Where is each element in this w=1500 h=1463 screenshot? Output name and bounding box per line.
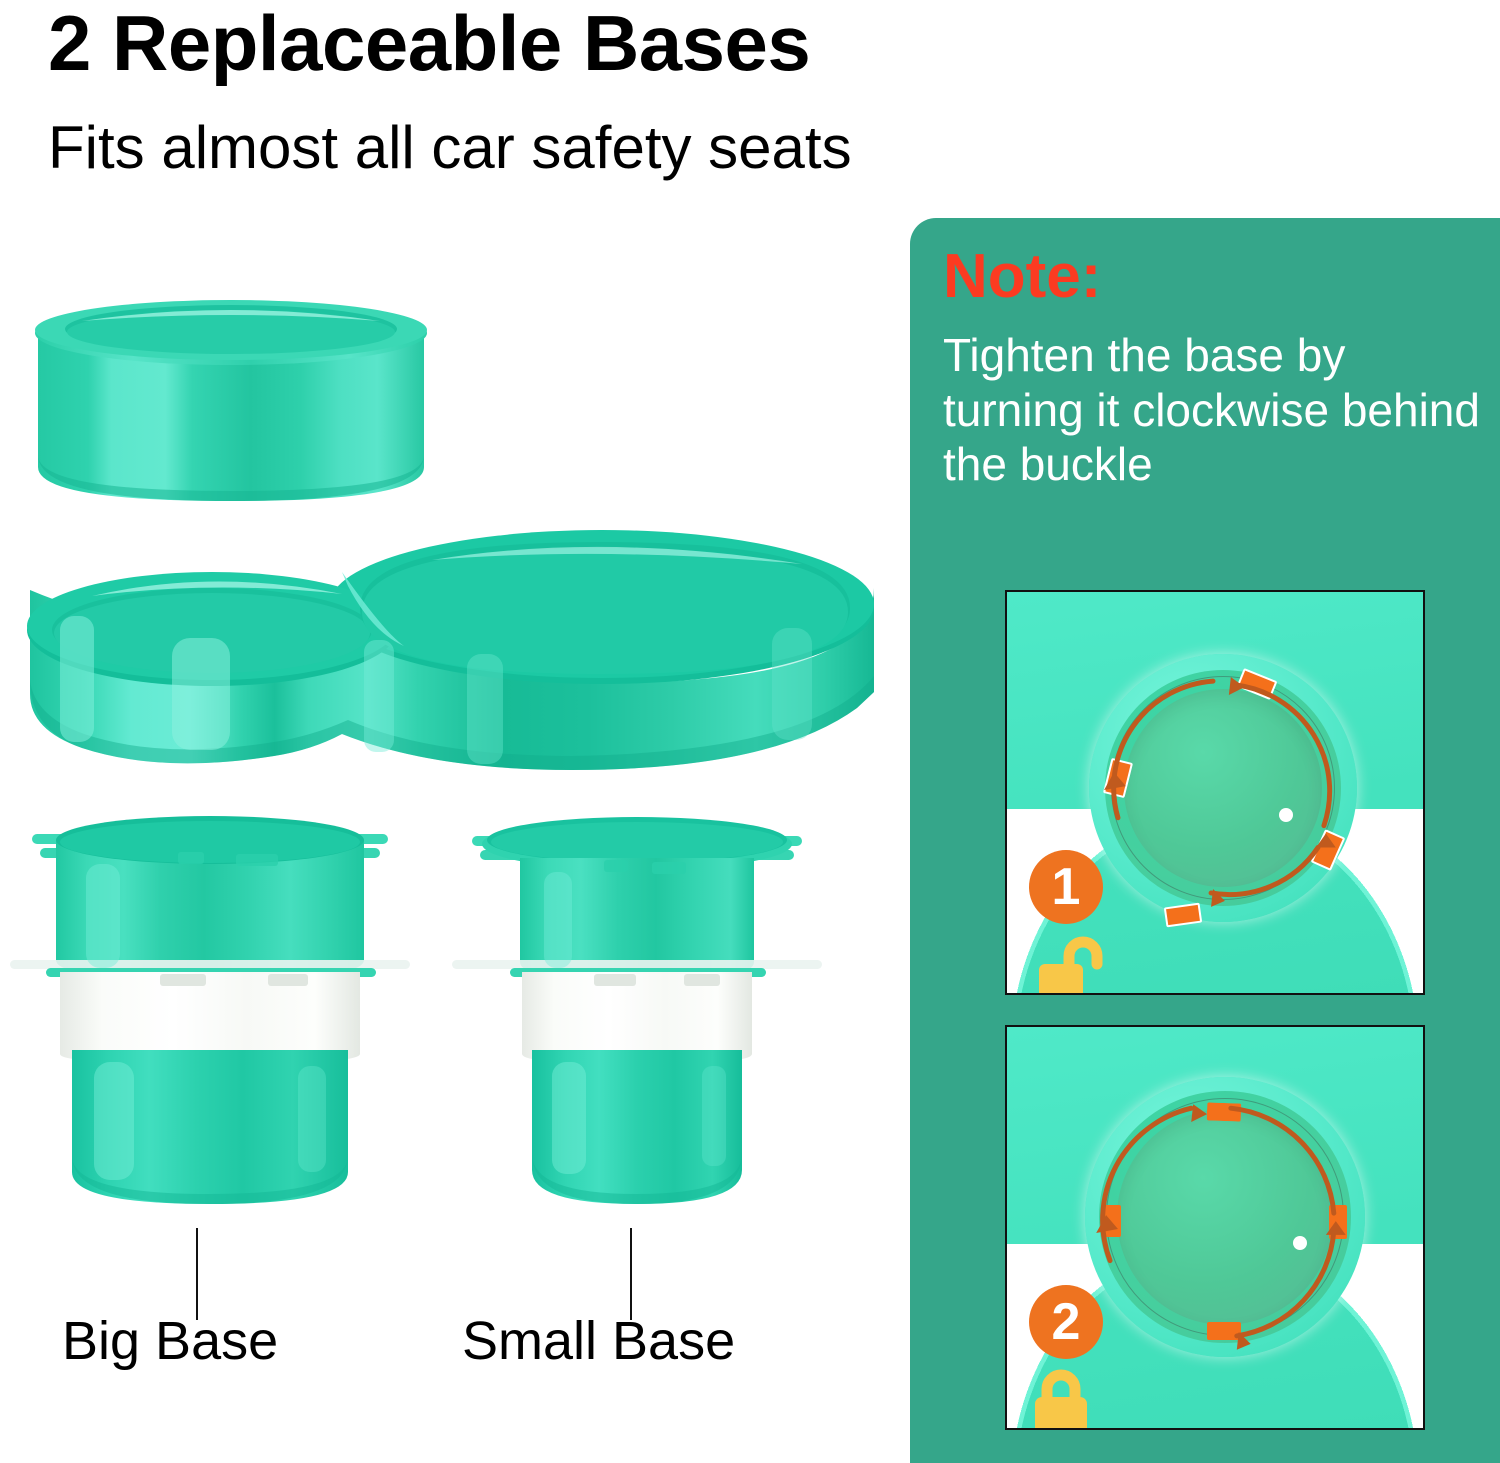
padlock-open-icon [1035,934,1111,995]
note-panel: Note: Tighten the base by turning it clo… [910,218,1500,1463]
note-body: Tighten the base by turning it clockwise… [943,328,1488,492]
replaceable-lid-ring [22,295,440,517]
big-base-cup [10,812,410,1220]
small-base-label: Small Base [462,1310,735,1372]
step-1-number-badge: 1 [1029,850,1103,924]
step-card-1: 1 [1005,590,1425,995]
leader-line-small-base [630,1228,632,1320]
step-card-2: 2 [1005,1025,1425,1430]
step-2-number-badge: 2 [1029,1285,1103,1359]
leader-line-big-base [196,1228,198,1320]
peanut-shaped-base-ring [12,512,892,780]
page-title: 2 Replaceable Bases [48,4,1228,82]
small-base-cup [452,812,822,1220]
step-1-rotation-arrows [1007,592,1423,993]
page-subtitle: Fits almost all car safety seats [48,118,1228,178]
note-heading: Note: [943,246,1101,308]
padlock-closed-icon [1035,1367,1111,1430]
big-base-label: Big Base [62,1310,278,1372]
page-headings: 2 Replaceable Bases Fits almost all car … [48,4,1228,178]
